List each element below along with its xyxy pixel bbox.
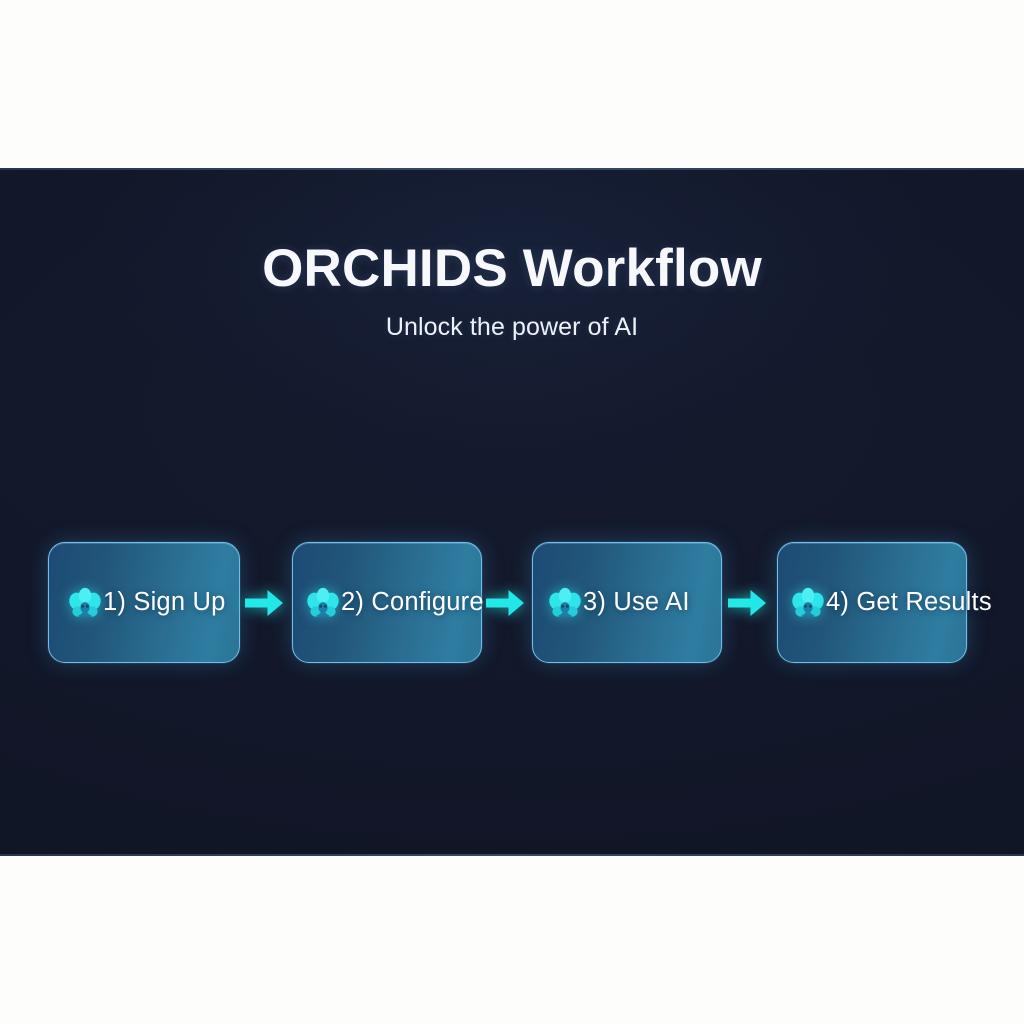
page-subtitle: Unlock the power of AI	[0, 297, 1024, 342]
workflow-step-1[interactable]: 1) Sign Up	[48, 542, 240, 663]
workflow-step-3[interactable]: 3) Use AI	[532, 542, 722, 663]
step-content: 2) Configure	[293, 583, 490, 623]
page-title: ORCHIDS Workflow	[0, 168, 1024, 297]
step-label: 2) Configure	[341, 588, 484, 617]
step-label: 1) Sign Up	[103, 588, 225, 617]
arrow-right-icon	[726, 582, 768, 624]
step-content: 1) Sign Up	[49, 583, 231, 623]
workflow-step-4[interactable]: 4) Get Results	[777, 542, 967, 663]
slide-canvas: ORCHIDS Workflow Unlock the power of AI	[0, 168, 1024, 856]
step-content: 4) Get Results	[778, 583, 998, 623]
step-label: 4) Get Results	[826, 588, 992, 617]
panel-bottom-edge	[0, 854, 1024, 856]
slide-header: ORCHIDS Workflow Unlock the power of AI	[0, 168, 1024, 342]
step-content: 3) Use AI	[533, 583, 696, 623]
arrow-right-icon	[484, 582, 526, 624]
workflow-step-2[interactable]: 2) Configure	[292, 542, 482, 663]
arrow-right-icon	[243, 582, 285, 624]
orchid-icon	[303, 584, 343, 624]
orchid-icon	[545, 584, 585, 624]
orchid-icon	[65, 584, 105, 624]
workflow-steps: 1) Sign Up	[0, 542, 1024, 664]
orchid-icon	[788, 584, 828, 624]
step-label: 3) Use AI	[583, 588, 690, 617]
